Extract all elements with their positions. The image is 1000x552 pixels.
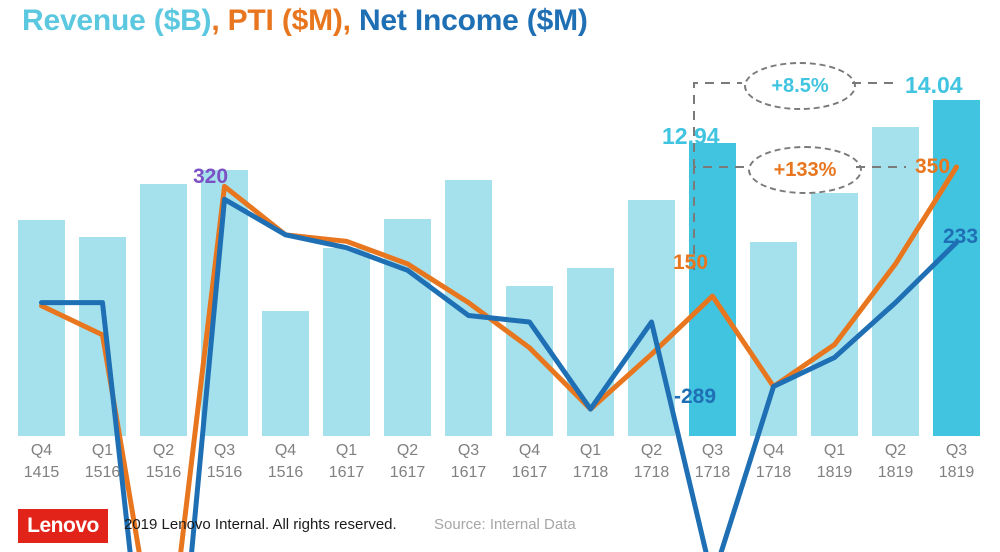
x-tick-q1-1617: Q11617 <box>323 440 370 484</box>
x-tick-q2-1516: Q21516 <box>140 440 187 484</box>
x-tick-quarter: Q2 <box>872 440 919 462</box>
x-tick-year: 1516 <box>201 462 248 484</box>
x-tick-year: 1718 <box>750 462 797 484</box>
x-tick-q4-1718: Q41718 <box>750 440 797 484</box>
x-tick-q1-1718: Q11718 <box>567 440 614 484</box>
x-tick-year: 1718 <box>567 462 614 484</box>
x-tick-year: 1819 <box>872 462 919 484</box>
x-tick-quarter: Q4 <box>506 440 553 462</box>
x-tick-q2-1617: Q21617 <box>384 440 431 484</box>
x-tick-q3-1819: Q31819 <box>933 440 980 484</box>
x-tick-quarter: Q3 <box>689 440 736 462</box>
x-tick-quarter: Q1 <box>323 440 370 462</box>
value-label-revenue-q3-1819: 14.04 <box>905 72 963 99</box>
x-tick-quarter: Q2 <box>384 440 431 462</box>
x-tick-q1-1819: Q11819 <box>811 440 858 484</box>
callout-pti-growth-text: +133% <box>774 159 837 182</box>
x-tick-year: 1819 <box>811 462 858 484</box>
x-tick-year: 1415 <box>18 462 65 484</box>
x-tick-year: 1516 <box>140 462 187 484</box>
source-text: Source: Internal Data <box>434 516 576 533</box>
x-tick-year: 1819 <box>933 462 980 484</box>
x-tick-q3-1617: Q31617 <box>445 440 492 484</box>
value-label-ni-q3-1718: -289 <box>674 385 716 409</box>
x-tick-quarter: Q2 <box>140 440 187 462</box>
net-income-line <box>42 199 957 552</box>
x-tick-quarter: Q4 <box>262 440 309 462</box>
x-tick-quarter: Q1 <box>811 440 858 462</box>
value-label-pti-q3-1819: 350 <box>915 155 950 179</box>
x-tick-year: 1617 <box>506 462 553 484</box>
footer: Lenovo 2019 Lenovo Internal. All rights … <box>0 505 1000 552</box>
x-tick-q4-1617: Q41617 <box>506 440 553 484</box>
x-tick-quarter: Q4 <box>18 440 65 462</box>
chart-title: Revenue ($B), PTI ($M), Net Income ($M) <box>22 4 588 38</box>
title-pti: PTI ($M) <box>228 4 343 37</box>
x-tick-year: 1718 <box>689 462 736 484</box>
x-tick-year: 1718 <box>628 462 675 484</box>
plot-area: 32012.94150-28914.04350233 +8.5% +133% <box>0 55 1000 440</box>
x-tick-year: 1516 <box>79 462 126 484</box>
value-label-pti-q3-1718: 150 <box>673 251 708 275</box>
line-series-layer <box>0 55 1000 440</box>
value-label-ni-q3-1819: 233 <box>943 225 978 249</box>
callout-revenue-growth: +8.5% <box>744 62 856 110</box>
x-tick-quarter: Q2 <box>628 440 675 462</box>
x-tick-q3-1718: Q31718 <box>689 440 736 484</box>
value-label-pti-peak-q3-1516: 320 <box>193 165 228 189</box>
copyright-text: 2019 Lenovo Internal. All rights reserve… <box>124 516 397 533</box>
x-tick-quarter: Q1 <box>567 440 614 462</box>
x-tick-year: 1617 <box>323 462 370 484</box>
callout-revenue-growth-text: +8.5% <box>771 75 828 98</box>
x-tick-year: 1617 <box>445 462 492 484</box>
x-tick-year: 1516 <box>262 462 309 484</box>
chart-root: Revenue ($B), PTI ($M), Net Income ($M) … <box>0 0 1000 552</box>
x-tick-quarter: Q3 <box>201 440 248 462</box>
x-tick-q1-1516: Q11516 <box>79 440 126 484</box>
x-tick-quarter: Q3 <box>933 440 980 462</box>
x-tick-q4-1516: Q41516 <box>262 440 309 484</box>
x-tick-quarter: Q3 <box>445 440 492 462</box>
x-tick-q3-1516: Q31516 <box>201 440 248 484</box>
x-tick-q2-1819: Q21819 <box>872 440 919 484</box>
x-tick-quarter: Q4 <box>750 440 797 462</box>
value-label-revenue-q3-1718: 12.94 <box>662 123 720 150</box>
x-tick-year: 1617 <box>384 462 431 484</box>
x-tick-q2-1718: Q21718 <box>628 440 675 484</box>
x-axis: Q41415Q11516Q21516Q31516Q41516Q11617Q216… <box>0 440 1000 498</box>
title-separator-1: , <box>211 4 227 37</box>
title-separator-2: , <box>343 4 359 37</box>
lenovo-logo: Lenovo <box>18 509 108 543</box>
callout-pti-growth: +133% <box>748 146 862 194</box>
x-tick-quarter: Q1 <box>79 440 126 462</box>
title-net-income: Net Income ($M) <box>359 4 588 37</box>
x-tick-q4-1415: Q41415 <box>18 440 65 484</box>
title-revenue: Revenue ($B) <box>22 4 211 37</box>
